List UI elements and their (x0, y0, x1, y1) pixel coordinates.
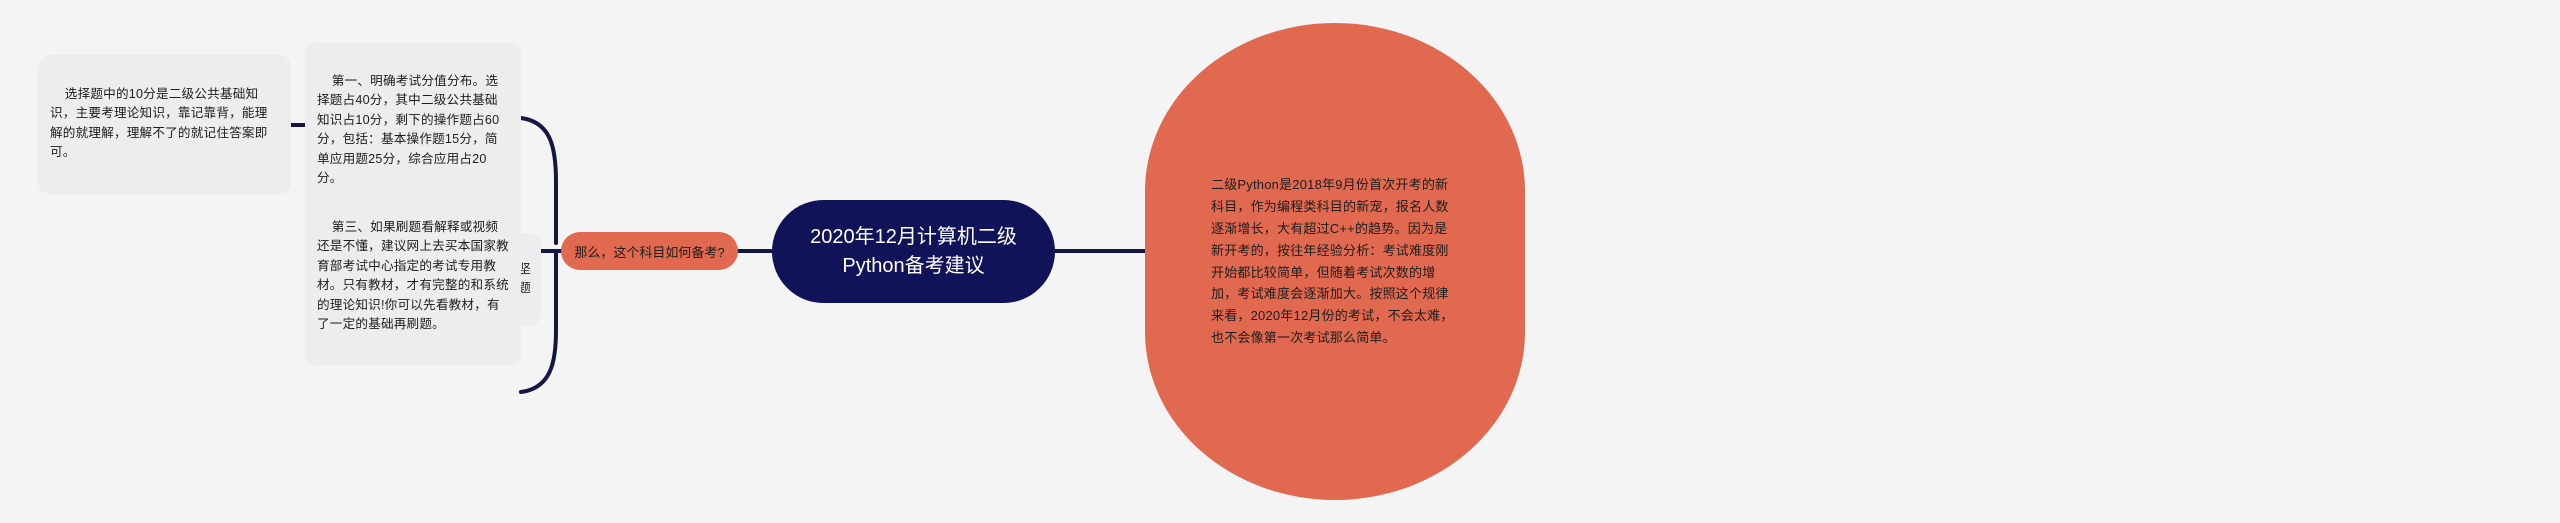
leaf-card-choice-questions[interactable]: 选择题中的10分是二级公共基础知识，主要考理论知识，靠记靠背，能理解的就理解，理… (38, 55, 291, 194)
central-topic-node[interactable]: 2020年12月计算机二级 Python备考建议 (772, 200, 1055, 303)
connector-brace-upper (521, 118, 556, 243)
detail-blob-node[interactable]: 二级Python是2018年9月份首次开考的新科目，作为编程类科目的新宠，报名人… (1145, 23, 1525, 500)
leaf-card-buy-textbook[interactable]: 第三、如果刷题看解释或视频还是不懂，建议网上去买本国家教育部考试中心指定的考试专… (305, 188, 521, 366)
question-node[interactable]: 那么，这个科目如何备考? (561, 232, 738, 270)
card-third-text: 第三、如果刷题看解释或视频还是不懂，建议网上去买本国家教育部考试中心指定的考试专… (317, 220, 509, 332)
detail-blob-text: 二级Python是2018年9月份首次开考的新科目，作为编程类科目的新宠，报名人… (1211, 174, 1459, 349)
card-first-text: 第一、明确考试分值分布。选择题占40分，其中二级公共基础知识占10分，剩下的操作… (317, 74, 499, 186)
mindmap-canvas: 选择题中的10分是二级公共基础知识，主要考理论知识，靠记靠背，能理解的就理解，理… (0, 0, 2560, 523)
question-node-label: 那么，这个科目如何备考? (574, 242, 724, 261)
central-topic-title: 2020年12月计算机二级 Python备考建议 (810, 223, 1017, 281)
card-choice-text: 选择题中的10分是二级公共基础知识，主要考理论知识，靠记靠背，能理解的就理解，理… (50, 87, 268, 160)
